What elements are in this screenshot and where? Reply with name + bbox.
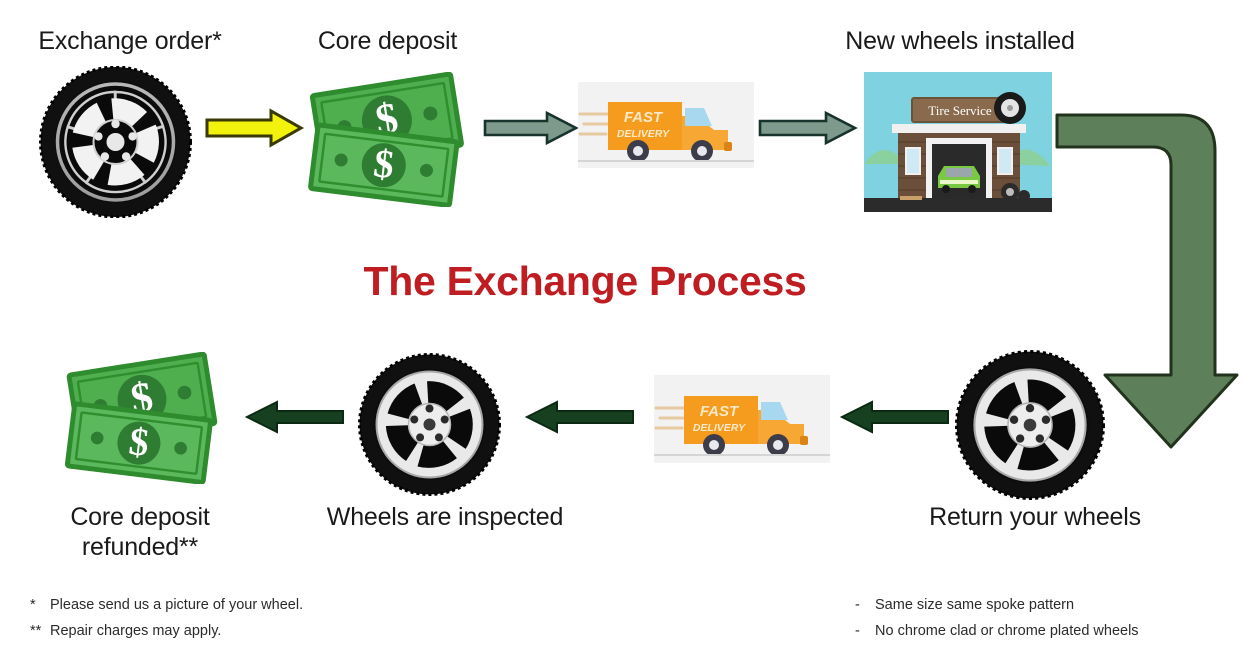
- truck-text-delivery: DELIVERY: [617, 128, 670, 140]
- footnotes-right: -Same size same spoke pattern -No chrome…: [855, 593, 1139, 645]
- wheel-silver-icon: [358, 353, 501, 496]
- footnote-marker: **: [30, 619, 50, 645]
- delivery-truck-icon: FAST DELIVERY: [654, 375, 830, 463]
- footnote-marker: -: [855, 593, 875, 619]
- footnote-text: No chrome clad or chrome plated wheels: [875, 623, 1139, 639]
- money-icon: $ $: [305, 72, 475, 212]
- label-deposit-refunded-line2: refunded**: [25, 533, 255, 563]
- label-return-your-wheels: Return your wheels: [890, 503, 1180, 533]
- footnote-right-1: -Same size same spoke pattern: [855, 593, 1139, 619]
- truck-text-delivery: DELIVERY: [693, 422, 746, 434]
- footnote-marker: *: [30, 593, 50, 619]
- footnote-left-2: **Repair charges may apply.: [30, 619, 303, 645]
- label-wheels-inspected: Wheels are inspected: [295, 503, 595, 533]
- arrow-shipping-to-install: [758, 110, 858, 146]
- footnote-right-2: -No chrome clad or chrome plated wheels: [855, 619, 1139, 645]
- truck-text-fast: FAST: [624, 109, 664, 126]
- tire-service-shop-icon: Tire Service: [864, 72, 1052, 212]
- wheel-silver-icon: [955, 350, 1105, 500]
- arrow-shipping-back-to-inspection: [525, 398, 635, 436]
- arrow-inspection-to-refund: [245, 398, 345, 436]
- arrow-return-to-shipping-back: [840, 398, 950, 436]
- shop-sign-text: Tire Service: [928, 103, 992, 118]
- arrow-deposit-to-shipping: [483, 110, 579, 146]
- exchange-process-diagram: Exchange order*: [0, 0, 1250, 666]
- footnote-text: Please send us a picture of your wheel.: [50, 597, 303, 613]
- footnote-text: Repair charges may apply.: [50, 623, 221, 639]
- footnote-left-1: *Please send us a picture of your wheel.: [30, 593, 303, 619]
- page-title: The Exchange Process: [0, 258, 1170, 305]
- footnote-text: Same size same spoke pattern: [875, 597, 1074, 613]
- truck-text-fast: FAST: [700, 403, 740, 420]
- wheel-dark-icon: [38, 66, 193, 218]
- label-new-wheels-installed: New wheels installed: [805, 27, 1115, 57]
- footnote-marker: -: [855, 619, 875, 645]
- label-core-deposit: Core deposit: [275, 27, 500, 57]
- arrow-order-to-deposit: [205, 108, 305, 148]
- footnotes-left: *Please send us a picture of your wheel.…: [30, 593, 303, 645]
- money-icon: $ $: [55, 352, 235, 489]
- delivery-truck-icon: FAST DELIVERY: [578, 82, 754, 168]
- label-exchange-order: Exchange order*: [15, 27, 245, 57]
- label-deposit-refunded-line1: Core deposit: [25, 503, 255, 533]
